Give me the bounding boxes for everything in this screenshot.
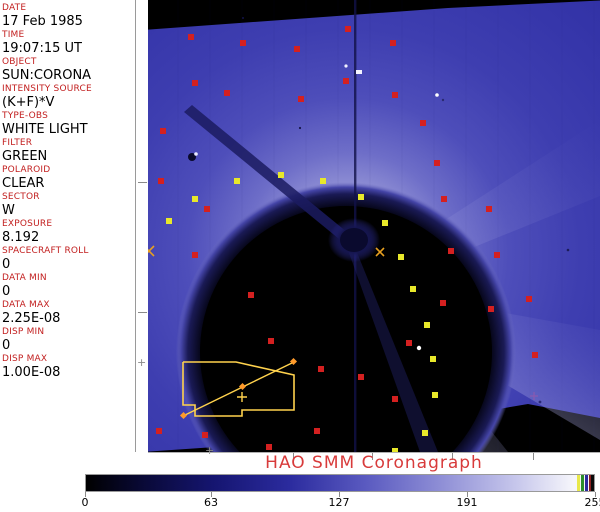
metadata-label-exposure: EXPOSURE	[2, 219, 135, 230]
red-marker	[240, 40, 246, 46]
colorbar-tick-label: 63	[204, 496, 218, 509]
red-marker	[345, 26, 351, 32]
red-marker	[294, 46, 300, 52]
metadata-value-intensity-source: (K+F)*V	[2, 95, 135, 110]
yellow-marker	[166, 218, 172, 224]
coronagraph-image-canvas	[148, 0, 600, 452]
coronagraph-viewer: DATE 17 Feb 1985 TIME 19:07:15 UT OBJECT…	[0, 0, 600, 512]
metadata-row-data-min: DATA MIN 0	[2, 273, 135, 299]
metadata-label-intensity-source: INTENSITY SOURCE	[2, 84, 135, 95]
red-marker	[392, 92, 398, 98]
colorbar-yellow-marker	[577, 475, 580, 491]
metadata-label-disp-max: DISP MAX	[2, 354, 135, 365]
colorbar-tick-label: 0	[82, 496, 89, 509]
yellow-marker	[410, 286, 416, 292]
red-marker	[406, 340, 412, 346]
metadata-row-intensity-source: INTENSITY SOURCE (K+F)*V	[2, 84, 135, 110]
red-marker	[314, 428, 320, 434]
metadata-value-data-max: 2.25E-08	[2, 311, 135, 326]
red-marker	[526, 296, 532, 302]
red-marker	[358, 374, 364, 380]
red-marker	[434, 160, 440, 166]
metadata-value-date: 17 Feb 1985	[2, 14, 135, 29]
metadata-value-time: 19:07:15 UT	[2, 41, 135, 56]
metadata-label-type-obs: TYPE-OBS	[2, 111, 135, 122]
metadata-row-filter: FILTER GREEN	[2, 138, 135, 164]
red-marker	[156, 428, 162, 434]
colorbar-gradient	[86, 475, 594, 491]
metadata-row-object: OBJECT SUN:CORONA	[2, 57, 135, 83]
metadata-value-type-obs: WHITE LIGHT	[2, 122, 135, 137]
axis-tick-left-2	[138, 312, 147, 313]
red-marker	[486, 206, 492, 212]
metadata-row-sector: SECTOR W	[2, 192, 135, 218]
metadata-value-polaroid: CLEAR	[2, 176, 135, 191]
metadata-row-type-obs: TYPE-OBS WHITE LIGHT	[2, 111, 135, 137]
metadata-label-polaroid: POLAROID	[2, 165, 135, 176]
red-marker	[392, 396, 398, 402]
metadata-label-disp-min: DISP MIN	[2, 327, 135, 338]
pylon-tip-core	[340, 228, 368, 252]
colorbar[interactable]	[85, 474, 595, 492]
red-marker	[390, 40, 396, 46]
red-marker	[224, 90, 230, 96]
colorbar-tick-label: 191	[457, 496, 478, 509]
metadata-row-date: DATE 17 Feb 1985	[2, 3, 135, 29]
metadata-value-disp-min: 0	[2, 338, 135, 353]
red-marker	[192, 80, 198, 86]
metadata-label-sector: SECTOR	[2, 192, 135, 203]
metadata-row-disp-min: DISP MIN 0	[2, 327, 135, 353]
metadata-row-polaroid: POLAROID CLEAR	[2, 165, 135, 191]
red-marker	[268, 338, 274, 344]
metadata-value-filter: GREEN	[2, 149, 135, 164]
colorbar-blue-marker	[585, 475, 588, 491]
yellow-marker	[422, 430, 428, 436]
yellow-marker	[320, 178, 326, 184]
metadata-value-data-min: 0	[2, 284, 135, 299]
red-marker	[420, 120, 426, 126]
metadata-value-sector: W	[2, 203, 135, 218]
metadata-row-time: TIME 19:07:15 UT	[2, 30, 135, 56]
red-marker	[448, 248, 454, 254]
red-marker	[192, 252, 198, 258]
colorbar-tick-labels: 063127191255	[0, 496, 600, 510]
metadata-row-spacecraft-roll: SPACECRAFT ROLL 0	[2, 246, 135, 272]
yellow-marker	[234, 178, 240, 184]
metadata-label-time: TIME	[2, 30, 135, 41]
red-marker	[441, 196, 447, 202]
metadata-label-spacecraft-roll: SPACECRAFT ROLL	[2, 246, 135, 257]
metadata-label-filter: FILTER	[2, 138, 135, 149]
axis-plus-left: +	[137, 357, 146, 368]
metadata-value-disp-max: 1.00E-08	[2, 365, 135, 380]
coronagraph-image[interactable]	[148, 0, 600, 452]
metadata-row-disp-max: DISP MAX 1.00E-08	[2, 354, 135, 380]
red-marker	[494, 252, 500, 258]
page-title: HAO SMM Coronagraph	[148, 454, 600, 473]
red-marker	[202, 432, 208, 438]
red-marker	[158, 178, 164, 184]
red-marker	[204, 206, 210, 212]
yellow-marker	[430, 356, 436, 362]
red-marker	[343, 78, 349, 84]
yellow-marker	[424, 322, 430, 328]
metadata-row-exposure: EXPOSURE 8.192	[2, 219, 135, 245]
metadata-value-object: SUN:CORONA	[2, 68, 135, 83]
colorbar-tick-label: 255	[585, 496, 600, 509]
red-marker	[318, 366, 324, 372]
metadata-label-object: OBJECT	[2, 57, 135, 68]
red-marker	[188, 34, 194, 40]
yellow-marker	[398, 254, 404, 260]
metadata-value-spacecraft-roll: 0	[2, 257, 135, 272]
metadata-sidebar: DATE 17 Feb 1985 TIME 19:07:15 UT OBJECT…	[0, 0, 136, 452]
yellow-marker	[278, 172, 284, 178]
red-marker	[488, 306, 494, 312]
red-marker	[298, 96, 304, 102]
metadata-value-exposure: 8.192	[2, 230, 135, 245]
metadata-label-data-min: DATA MIN	[2, 273, 135, 284]
red-marker	[160, 128, 166, 134]
red-marker	[440, 300, 446, 306]
colorbar-green-marker	[581, 475, 584, 491]
metadata-label-date: DATE	[2, 3, 135, 14]
colorbar-black-marker	[591, 475, 594, 491]
yellow-marker	[432, 392, 438, 398]
metadata-row-data-max: DATA MAX 2.25E-08	[2, 300, 135, 326]
yellow-marker	[382, 220, 388, 226]
yellow-marker	[192, 196, 198, 202]
colorbar-tick-label: 127	[329, 496, 350, 509]
yellow-marker	[358, 194, 364, 200]
red-marker	[266, 444, 272, 450]
red-marker	[532, 352, 538, 358]
metadata-label-data-max: DATA MAX	[2, 300, 135, 311]
axis-tick-left-1	[138, 182, 147, 183]
red-marker	[248, 292, 254, 298]
